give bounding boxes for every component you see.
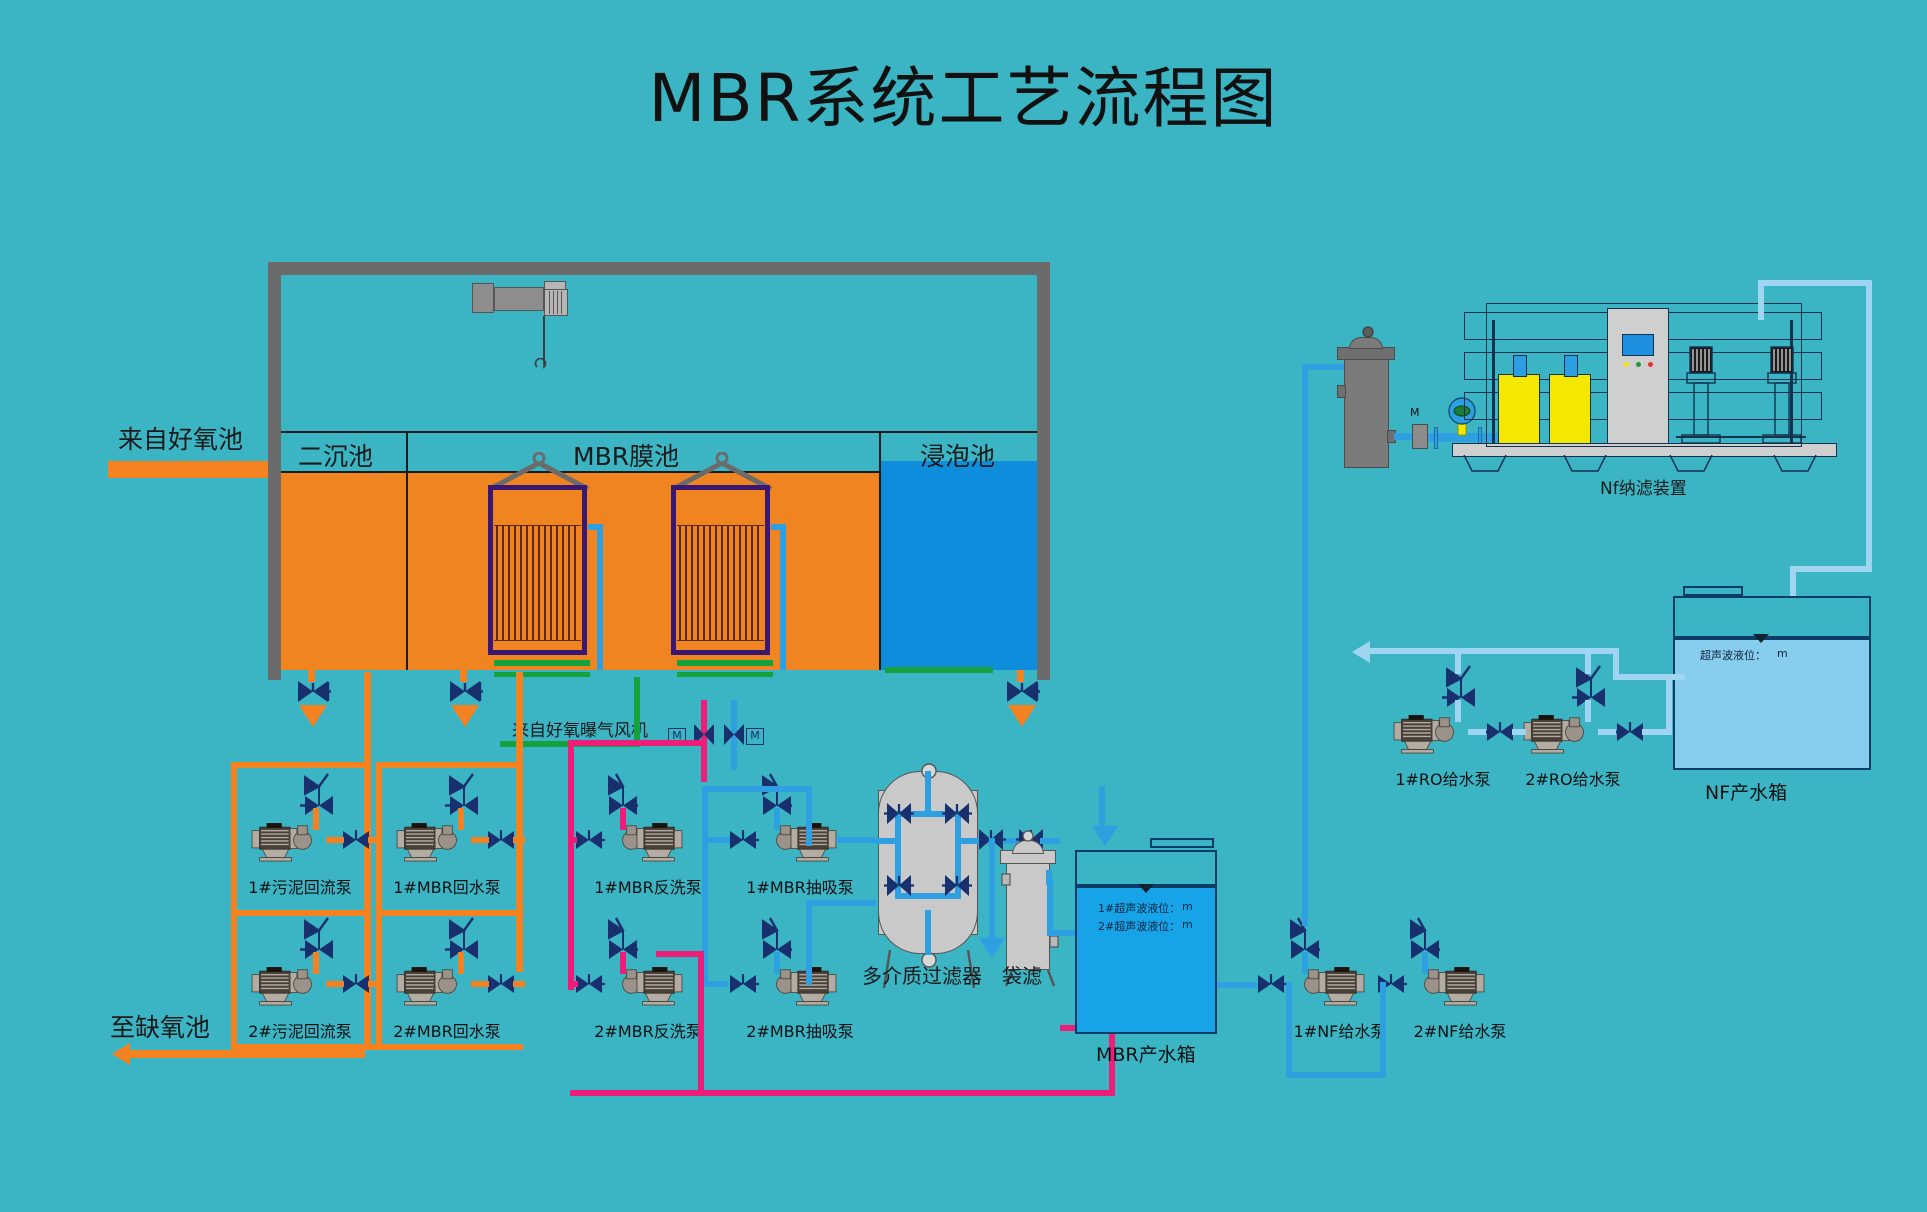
nf-panel-led-yellow: [1624, 362, 1629, 367]
basin-structure: [268, 262, 1050, 680]
suction-1-riser: [806, 786, 812, 846]
drain-valve-settling[interactable]: [296, 678, 332, 708]
bagfilter-outlet-riser: [1047, 877, 1053, 935]
pump-label-ro-feed-1: 1#RO给水泵: [1378, 766, 1508, 790]
nf-product-tank-headspace: [1673, 596, 1871, 638]
air-lateral-2: [677, 672, 773, 677]
process-diagram-canvas: MBR系统工艺流程图 来自好氧池 至缺氧池 二沉池 MBR膜池 浸泡池: [0, 0, 1927, 1212]
motor-valve-nf-body[interactable]: [1412, 424, 1428, 449]
suction-2-riser: [806, 900, 812, 985]
page-title: MBR系统工艺流程图: [0, 45, 1927, 141]
nf-permeate-top: [1758, 280, 1764, 320]
backwash-return-riser: [698, 951, 704, 1096]
mbr-return-loop-top-1: [376, 762, 523, 768]
valve-mmf-inlet-top[interactable]: [884, 800, 914, 828]
nf-vertical-pump-1-icon[interactable]: [1676, 345, 1726, 445]
nf-skid-label: Nf纳滤装置: [1600, 474, 1687, 499]
mbr-return-header: [516, 672, 523, 972]
hoist-drum: [544, 289, 568, 316]
suction-top-cross: [702, 786, 812, 792]
mbr-return-loop-bottom: [376, 1044, 523, 1050]
backwash-bottom-main: [570, 1090, 1115, 1096]
suction-2-inlet-branch: [702, 981, 728, 987]
outlet-pipe: [130, 1050, 365, 1058]
nf-chemical-tank-2[interactable]: [1549, 374, 1591, 444]
motor-valve-nf-label: M: [1410, 406, 1420, 419]
pump-label-mbr-return-1: 1#MBR回水泵: [382, 874, 512, 898]
pump-label-mbr-suction-1: 1#MBR抽吸泵: [730, 874, 870, 898]
valve-mbr-suction-2-inlet[interactable]: [727, 971, 759, 997]
drain-arrow-mbr-icon: [451, 705, 479, 727]
permeate-riser-2: [780, 524, 786, 670]
nf-panel-led-red: [1648, 362, 1653, 367]
suction-2-cross: [806, 900, 876, 906]
hoist-cable: [543, 316, 545, 361]
cartridge-inlet-nozzle: [1337, 385, 1346, 398]
air-lateral-3: [885, 667, 993, 673]
nf-feed-riser-up: [1302, 364, 1308, 744]
sludge-loop-bottom: [231, 1044, 378, 1050]
motor-valve-suction[interactable]: [722, 722, 746, 750]
permeate-tap-1: [588, 524, 603, 530]
pump-label-ro-feed-2: 2#RO给水泵: [1508, 766, 1638, 790]
cartridge-vent-icon: [1356, 325, 1380, 341]
drain-valve-soak[interactable]: [1005, 678, 1041, 708]
air-header-1: [494, 660, 590, 666]
drain-arrow-soak-icon: [1008, 705, 1036, 727]
valve-mmf-outlet-top[interactable]: [942, 800, 972, 828]
blower-pipe-v: [634, 677, 640, 747]
ro-feed-export-pipe: [1370, 648, 1462, 654]
blower-label: 来自好氧曝气风机: [512, 716, 648, 741]
mbr-product-tank-name: MBR产水箱: [1096, 1040, 1196, 1067]
sludge-loop-left: [231, 762, 237, 1050]
membrane-fibers-2: [677, 525, 764, 640]
nf-panel-led-green: [1636, 362, 1641, 367]
pump-label-mbr-return-2: 2#MBR回水泵: [382, 1018, 512, 1042]
nf-chemical-tank-1-cap: [1513, 355, 1527, 377]
backwash-2-out: [656, 951, 704, 957]
pump-label-sludge-return-1: 1#污泥回流泵: [235, 874, 365, 898]
pump-label-mbr-suction-2: 2#MBR抽吸泵: [730, 1018, 870, 1042]
valve-mmf-inlet-bottom[interactable]: [884, 872, 914, 900]
inlet-pipe: [108, 461, 283, 478]
pump-label-nf-feed-2: 2#NF给水泵: [1390, 1018, 1530, 1042]
nf-feed-to-cartridge: [1302, 364, 1344, 370]
sludge-loop-top-1: [231, 762, 371, 768]
mmf-drain-down: [989, 838, 995, 942]
valve-mmf-outlet-bottom[interactable]: [942, 872, 972, 900]
nf-permeate-to-tank: [1790, 566, 1872, 572]
mbr-product-tank-lid: [1150, 838, 1214, 848]
mbr-level-1-label: 1#超声波液位：: [1098, 900, 1180, 916]
nf-chemical-tank-2-cap: [1564, 355, 1578, 377]
mbr-level-2-unit: m: [1182, 918, 1193, 931]
nf-product-level-indicator-icon: [1753, 634, 1769, 643]
valve-nf-feed-1-inlet[interactable]: [1255, 971, 1287, 997]
backwash-top-cross: [568, 740, 704, 746]
mbr-product-level-indicator-icon: [1138, 884, 1154, 893]
air-lateral-1: [494, 672, 590, 677]
bag-filter-label: 袋滤: [1002, 960, 1042, 989]
nf-feed-riser: [1302, 740, 1308, 926]
hoist-body: [494, 287, 544, 311]
nf-product-tank-lid: [1683, 586, 1743, 596]
mbr-tank-inlet-arrow-icon: [1092, 826, 1118, 846]
hoist-hook-icon: [534, 358, 556, 378]
outlet-arrow-icon: [112, 1043, 130, 1065]
outlet-label: 至缺氧池: [110, 1008, 210, 1044]
membrane-fibers-1: [494, 525, 581, 640]
nf-feed-crossover: [1286, 1072, 1386, 1078]
mbr-level-2-label: 2#超声波液位：: [1098, 918, 1180, 934]
multimedia-filter-label: 多介质过滤器: [862, 960, 982, 989]
drain-valve-mbr[interactable]: [448, 678, 484, 708]
mbr-return-loop-left: [376, 762, 382, 1050]
nf-vertical-pump-2-icon[interactable]: [1757, 345, 1807, 445]
nf-level-label: 超声波液位：: [1700, 647, 1766, 663]
hoist-crane-icon: [472, 283, 494, 313]
pump-label-mbr-backwash-1: 1#MBR反洗泵: [578, 874, 718, 898]
nf-control-panel[interactable]: [1607, 308, 1669, 444]
nf-feed-header: [1217, 982, 1257, 988]
nf-chemical-tank-1[interactable]: [1498, 374, 1540, 444]
nf-product-tank-name: NF产水箱: [1705, 778, 1787, 805]
drain-arrow-settling-icon: [299, 705, 327, 727]
pump-label-sludge-return-2: 2#污泥回流泵: [235, 1018, 365, 1042]
nf-feed-2-down: [1380, 982, 1386, 1078]
nf-feed-1-down: [1286, 982, 1292, 1078]
valve-mbr-backwash-1-suction[interactable]: [573, 827, 605, 853]
suction-1-outlet: [836, 837, 876, 843]
cartridge-filter-shell[interactable]: [1344, 358, 1389, 468]
mbr-level-1-unit: m: [1182, 900, 1193, 913]
air-header-2: [677, 660, 773, 666]
inlet-label: 来自好氧池: [118, 420, 243, 456]
permeate-riser-1: [597, 524, 603, 670]
pump-label-mbr-backwash-2: 2#MBR反洗泵: [578, 1018, 718, 1042]
motor-valve-suction-label[interactable]: M: [746, 728, 764, 745]
backwash-manifold: [568, 740, 574, 990]
nf-panel-hmi-screen[interactable]: [1622, 334, 1654, 356]
ro-feed-export-arrow-icon: [1352, 641, 1370, 663]
permeate-tap-2: [771, 524, 786, 530]
nf-permeate-drop: [1790, 566, 1796, 600]
backwash-2-branch: [568, 981, 578, 987]
valve-mbr-suction-1-inlet[interactable]: [727, 827, 759, 853]
nf-permeate-cross: [1758, 280, 1872, 286]
mbr-product-tank-headspace: [1075, 850, 1217, 886]
nf-level-unit: m: [1777, 647, 1788, 660]
ro-feed-suction-header: [1455, 648, 1617, 654]
nf-permeate-right-down: [1866, 280, 1872, 570]
